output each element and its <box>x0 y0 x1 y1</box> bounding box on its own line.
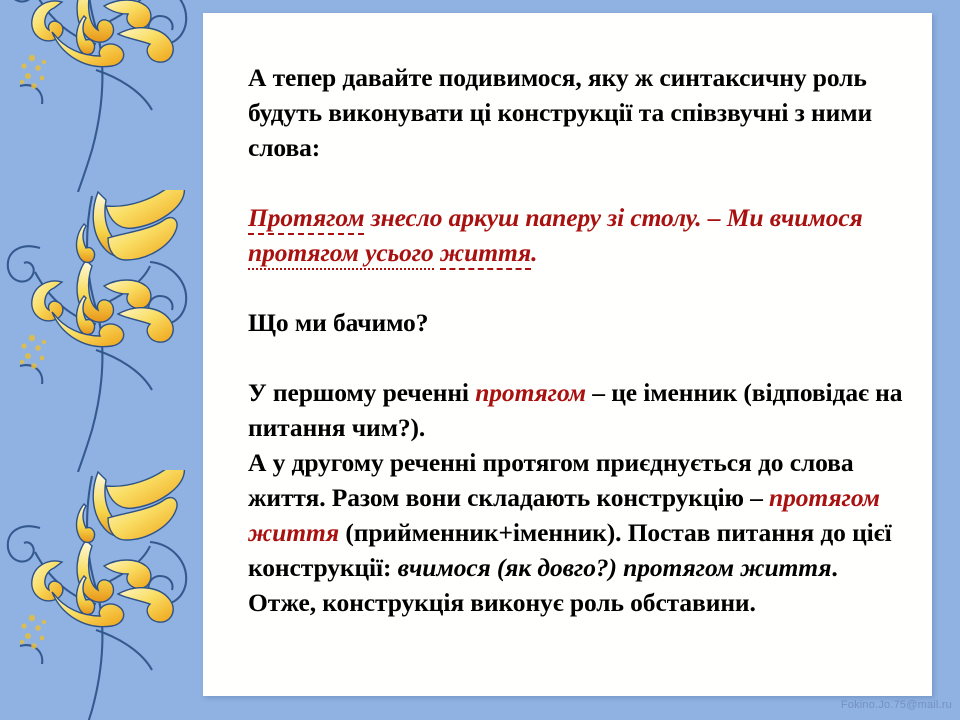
spacer <box>248 270 903 305</box>
example-dash: – <box>708 203 727 232</box>
spacer <box>248 165 903 200</box>
example-period: . <box>531 238 537 267</box>
spacer <box>248 340 903 375</box>
explain1-part1: У першому реченні <box>248 378 475 407</box>
floral-flourish-icon <box>0 470 206 720</box>
example-word-zhyttya: життя <box>440 238 531 270</box>
explain2-part1: А у другому реченні протягом приєднуєтьс… <box>248 448 853 512</box>
example-sentence: Протягом знесло аркуш паперу зі столу. –… <box>248 200 903 270</box>
ornament-band <box>0 0 206 720</box>
intro-line-3: слова: <box>248 133 320 162</box>
example-rest-1: знесло аркуш паперу зі столу. <box>364 203 707 232</box>
content-card: А тепер давайте подивимося, яку ж синтак… <box>203 13 932 696</box>
watermark-text: Fokino.Jo.75@mail.ru <box>841 699 952 711</box>
intro-line-2: будуть виконувати ці конструкції та спів… <box>248 98 872 127</box>
floral-flourish-icon <box>0 0 206 192</box>
question-line: Що ми бачимо? <box>248 305 903 340</box>
floral-flourish-icon <box>0 190 206 472</box>
example-word-protyagom-usogo: протягом усього <box>248 238 434 270</box>
explanation-paragraph-1: У першому реченні протягом – це іменник … <box>248 375 903 445</box>
explain1-highlight-protyagom: протягом <box>475 378 586 407</box>
slide-canvas: А тепер давайте подивимося, яку ж синтак… <box>0 0 960 720</box>
explanation-paragraph-2: А у другому реченні протягом приєднуєтьс… <box>248 445 903 620</box>
explain2-italic-question: вчимося (як довго?) протягом життя <box>398 553 832 582</box>
intro-line-1: А тепер давайте подивимося, яку ж синтак… <box>248 63 867 92</box>
example-rest-2: Ми вчимося <box>727 203 863 232</box>
example-word-protyagom-1: Протягом <box>248 203 364 235</box>
slide-body-text: А тепер давайте подивимося, яку ж синтак… <box>248 60 903 620</box>
intro-paragraph: А тепер давайте подивимося, яку ж синтак… <box>248 60 903 165</box>
